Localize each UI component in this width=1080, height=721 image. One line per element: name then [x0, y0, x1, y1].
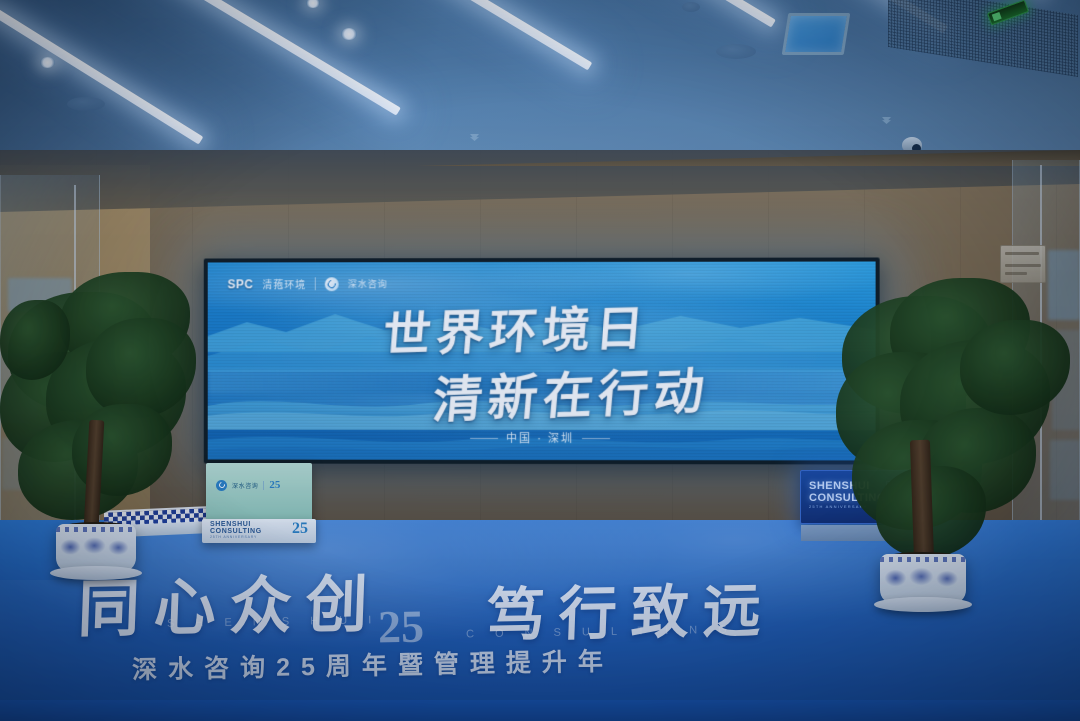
planter-saucer [874, 597, 972, 612]
ceiling-speaker-icon [716, 44, 756, 59]
glass-reflection [1048, 250, 1080, 320]
tree-trunk [910, 440, 934, 563]
lobby-photo-scene: SPC 清菢环境 深水咨询 世界环境日 清新在行动 中国 · 深圳 [0, 0, 1080, 721]
screen-brand-bar: SPC 清菢环境 深水咨询 [228, 276, 388, 291]
podium-left-logo-text: 深水咨询 [232, 481, 258, 490]
subtitle-rule-right [582, 438, 610, 439]
subtitle-rule-left [470, 437, 498, 438]
shenshui-name: 深水咨询 [348, 277, 388, 290]
downlight-icon [40, 57, 55, 68]
brand-divider [315, 277, 316, 290]
podium-left-base: SHENSHUI CONSULTING 25TH ANNIVERSARY 25 [202, 519, 316, 543]
podium-logo-divider [263, 481, 264, 490]
plaque-line [1005, 272, 1027, 275]
screen-headline: 世界环境日 清新在行动 [208, 292, 876, 429]
planter-saucer [50, 566, 142, 580]
spc-name: 清菢环境 [262, 276, 306, 291]
screen-subtitle: 中国 · 深圳 [208, 430, 876, 447]
shenshui-logo-icon [216, 480, 227, 491]
floor-front-edge [0, 700, 1080, 721]
glass-reflection [1050, 440, 1080, 500]
subtitle-text: 中国 · 深圳 [506, 430, 574, 446]
podium-cap-line-3: 25TH ANNIVERSARY [210, 535, 262, 539]
podium-left-logo: 深水咨询 25 [216, 479, 280, 491]
podium-left-anniversary: 25 [269, 479, 280, 491]
ceiling-light-panel [782, 13, 851, 55]
downlight-icon [341, 28, 357, 40]
porcelain-planter-left [56, 524, 136, 572]
podium-left[interactable]: 深水咨询 25 SHENSHUI CONSULTING 25TH ANNIVER… [206, 463, 312, 525]
smoke-detector-icon [682, 2, 700, 12]
led-screen-content: SPC 清菢环境 深水咨询 世界环境日 清新在行动 中国 · 深圳 [208, 262, 876, 461]
plaque-line [1005, 264, 1041, 267]
led-video-wall[interactable]: SPC 清菢环境 深水咨询 世界环境日 清新在行动 中国 · 深圳 [204, 257, 880, 464]
podium-cap-line-2: CONSULTING [210, 528, 262, 535]
ceiling-speaker-icon [67, 97, 105, 111]
podium-cap-line-1: SHENSHUI [210, 521, 262, 528]
podium-cap-number: 25 [292, 521, 308, 537]
plaque-line [1005, 252, 1039, 255]
wall-plaque [1000, 245, 1046, 283]
podium-left-base-text: SHENSHUI CONSULTING 25TH ANNIVERSARY [210, 521, 262, 539]
shenshui-logo-icon [325, 277, 339, 291]
spc-abbr: SPC [228, 277, 254, 291]
